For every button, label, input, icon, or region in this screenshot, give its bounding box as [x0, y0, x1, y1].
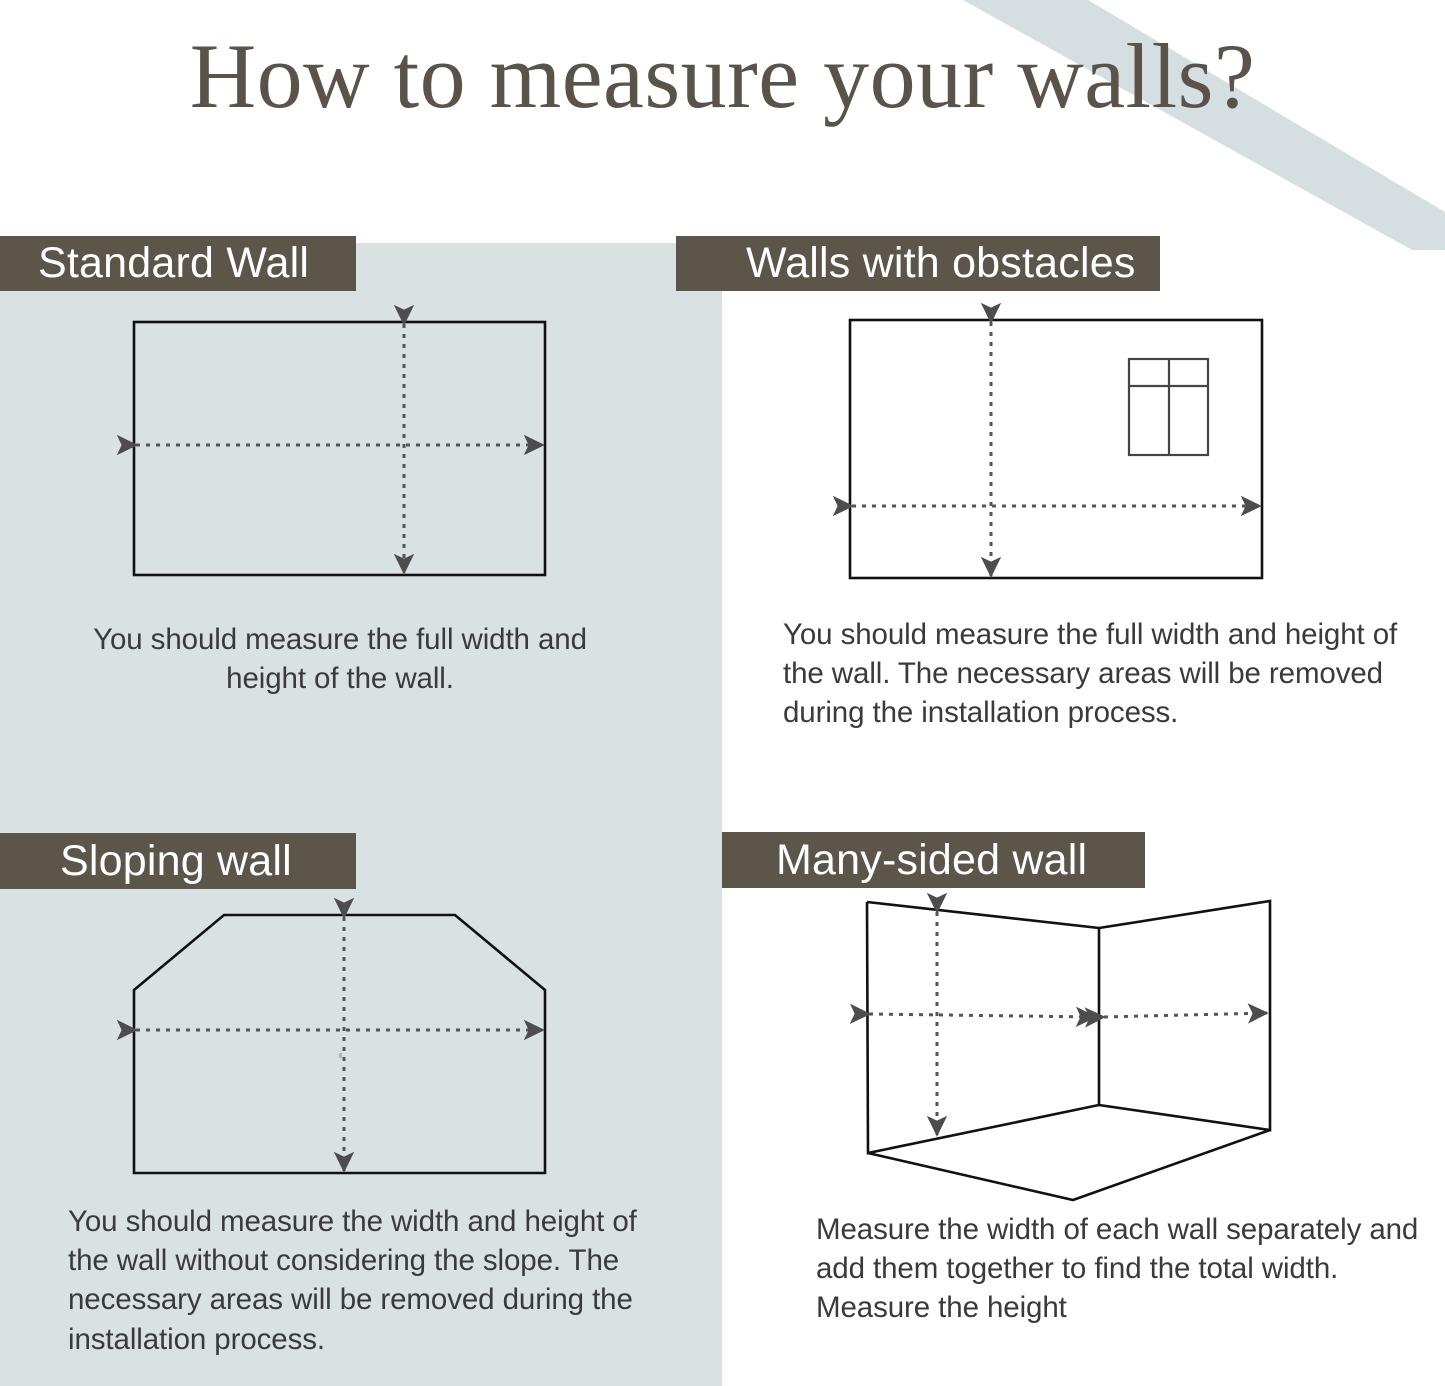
diagram-sloping-wall [110, 895, 580, 1195]
window-obstacle-icon [1129, 359, 1208, 455]
section-header-standard-wall-label: Standard Wall [38, 239, 309, 288]
section-header-standard-wall: Standard Wall [0, 236, 356, 291]
sloping-wall-drawing-icon [110, 895, 580, 1195]
caption-many-sided-wall: Measure the width of each wall separatel… [816, 1210, 1431, 1328]
infographic-page: How to measure your walls? Standard Wall… [0, 0, 1445, 1386]
section-header-many-sided-wall: Many-sided wall [722, 832, 1145, 888]
section-header-walls-with-obstacles: Walls with obstacles [676, 236, 1160, 291]
page-title: How to measure your walls? [0, 28, 1445, 125]
diagram-walls-with-obstacles [830, 300, 1290, 600]
section-header-sloping-wall: Sloping wall [0, 833, 356, 889]
standard-wall-drawing-icon [110, 300, 580, 600]
corner-room-drawing-icon [840, 890, 1300, 1210]
diagram-standard-wall [110, 300, 580, 600]
caption-sloping-wall: You should measure the width and height … [68, 1202, 658, 1359]
diagram-many-sided-wall [840, 890, 1300, 1210]
section-header-walls-with-obstacles-label: Walls with obstacles [746, 239, 1136, 288]
obstacle-wall-drawing-icon [830, 300, 1290, 600]
section-header-many-sided-wall-label: Many-sided wall [776, 836, 1087, 885]
caption-walls-with-obstacles: You should measure the full width and he… [783, 615, 1413, 733]
caption-standard-wall: You should measure the full width and he… [60, 620, 620, 698]
section-header-sloping-wall-label: Sloping wall [60, 837, 292, 886]
